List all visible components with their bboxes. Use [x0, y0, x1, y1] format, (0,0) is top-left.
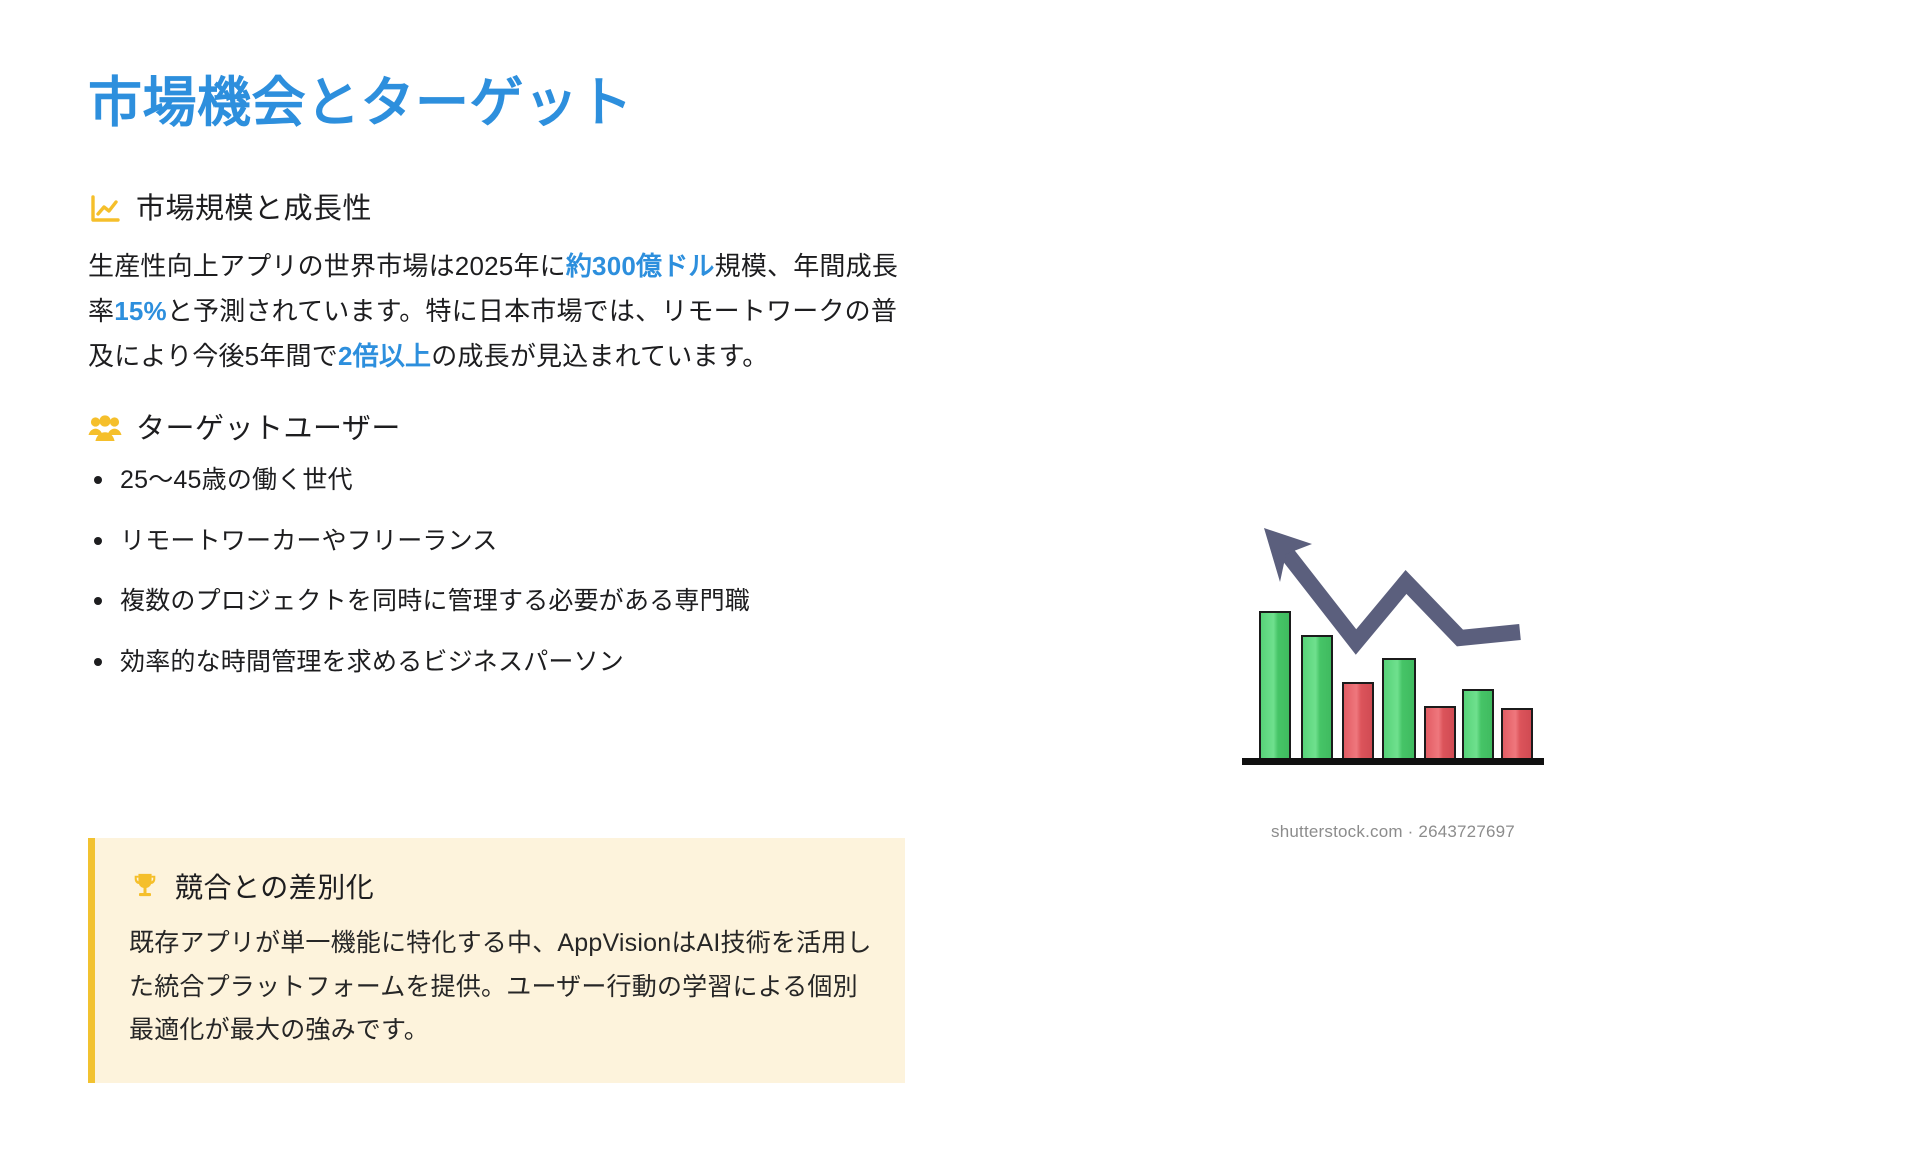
bullet-dot-icon: [94, 597, 102, 605]
callout-header: 競合との差別化: [129, 866, 875, 906]
shutterstock-watermark: shutterstock.com · 2643727697: [1238, 822, 1548, 842]
section-target-users: ターゲットユーザー 25〜45歳の働く世代 リモートワーカーやフリーランス 複数…: [88, 412, 918, 678]
list-item: 複数のプロジェクトを同時に管理する必要がある専門職: [88, 585, 918, 618]
list-item-label: リモートワーカーやフリーランス: [120, 527, 498, 555]
bar-1: [1260, 612, 1290, 760]
bar-3: [1343, 683, 1373, 760]
list-item: 効率的な時間管理を求めるビジネスパーソン: [88, 646, 918, 679]
users-icon: [88, 412, 122, 446]
bar-2: [1302, 636, 1332, 760]
list-item-label: 複数のプロジェクトを同時に管理する必要がある専門職: [120, 587, 750, 615]
bullet-dot-icon: [94, 537, 102, 545]
bar-6: [1463, 690, 1493, 760]
highlight-growth-rate: 15%: [114, 296, 167, 326]
market-size-paragraph: 生産性向上アプリの世界市場は2025年に約300億ドル規模、年間成長率15%と予…: [88, 244, 908, 378]
bar-chart-with-up-arrow-illustration: shutterstock.com · 2643727697: [1238, 520, 1568, 890]
paragraph-text-4: の成長が見込まれています。: [431, 341, 768, 371]
list-item: 25〜45歳の働く世代: [88, 464, 918, 497]
line-chart-icon: [88, 192, 122, 226]
trophy-icon: [129, 870, 161, 902]
section-target-users-title: ターゲットユーザー: [136, 415, 401, 444]
callout-body-text: 既存アプリが単一機能に特化する中、AppVisionはAI技術を活用した統合プラ…: [129, 922, 875, 1053]
slide-root: 市場機会とターゲット 市場規模と成長性 生産性向上アプリの世界市場は2025年に…: [0, 0, 1920, 1173]
bullet-dot-icon: [94, 476, 102, 484]
highlight-market-value: 約300億ドル: [566, 251, 715, 281]
target-users-list: 25〜45歳の働く世代 リモートワーカーやフリーランス 複数のプロジェクトを同時…: [88, 464, 918, 678]
list-item-label: 効率的な時間管理を求めるビジネスパーソン: [120, 648, 624, 676]
trend-arrow-icon: [1278, 542, 1520, 642]
paragraph-text-1: 生産性向上アプリの世界市場は2025年に: [88, 251, 566, 281]
bar-7: [1502, 709, 1532, 760]
differentiation-callout: 競合との差別化 既存アプリが単一機能に特化する中、AppVisionはAI技術を…: [88, 838, 905, 1083]
list-item: リモートワーカーやフリーランス: [88, 525, 918, 558]
section-target-users-header: ターゲットユーザー: [88, 412, 918, 446]
page-title: 市場機会とターゲット: [88, 72, 918, 134]
list-item-label: 25〜45歳の働く世代: [120, 466, 353, 494]
section-market-size-header: 市場規模と成長性: [88, 192, 918, 226]
bar-chart-graphic: [1238, 520, 1548, 790]
highlight-double-growth: 2倍以上: [338, 341, 431, 371]
section-market-size-title: 市場規模と成長性: [136, 195, 372, 224]
section-market-size: 市場規模と成長性 生産性向上アプリの世界市場は2025年に約300億ドル規模、年…: [88, 192, 918, 378]
bar-5: [1425, 707, 1455, 760]
chart-baseline: [1242, 758, 1544, 765]
bullet-dot-icon: [94, 658, 102, 666]
bar-4: [1383, 659, 1415, 760]
content-column: 市場機会とターゲット 市場規模と成長性 生産性向上アプリの世界市場は2025年に…: [88, 72, 918, 708]
callout-title: 競合との差別化: [175, 866, 374, 906]
